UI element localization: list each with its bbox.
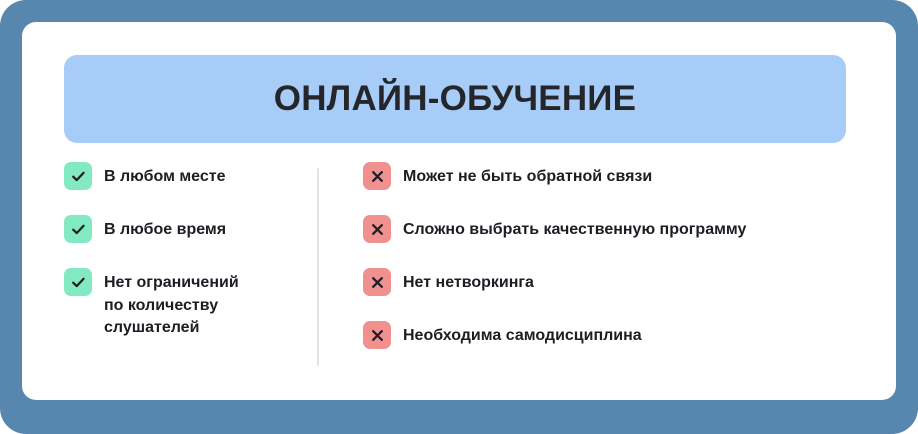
list-item-label: Необходима самодисциплина: [403, 321, 642, 348]
check-icon: [64, 268, 92, 296]
cross-icon: [363, 321, 391, 349]
list-item-label: Может не быть обратной связи: [403, 162, 652, 189]
list-item-label: Нет нетворкинга: [403, 268, 534, 295]
comparison-columns: В любом месте В любое время: [22, 162, 896, 400]
list-item: Нет ограничений по количеству слушателей: [64, 268, 239, 340]
cross-icon: [363, 215, 391, 243]
list-item-label: Сложно выбрать качественную программу: [403, 215, 746, 242]
list-item-label: В любом месте: [104, 162, 226, 189]
list-item: Может не быть обратной связи: [363, 162, 652, 190]
list-item: Нет нетворкинга: [363, 268, 534, 296]
list-item-label: В любое время: [104, 215, 226, 242]
list-item-label: Нет ограничений по количеству слушателей: [104, 268, 239, 340]
title-banner: ОНЛАЙН-ОБУЧЕНИЕ: [64, 55, 846, 143]
list-item: В любом месте: [64, 162, 226, 190]
cross-icon: [363, 268, 391, 296]
check-icon: [64, 162, 92, 190]
column-divider: [317, 168, 319, 366]
list-item: Необходима самодисциплина: [363, 321, 642, 349]
list-item: В любое время: [64, 215, 226, 243]
check-icon: [64, 215, 92, 243]
info-card: ОНЛАЙН-ОБУЧЕНИЕ В любом месте: [22, 22, 896, 400]
outer-frame: ОНЛАЙН-ОБУЧЕНИЕ В любом месте: [0, 0, 918, 434]
page-title: ОНЛАЙН-ОБУЧЕНИЕ: [274, 80, 636, 119]
list-item: Сложно выбрать качественную программу: [363, 215, 746, 243]
cross-icon: [363, 162, 391, 190]
